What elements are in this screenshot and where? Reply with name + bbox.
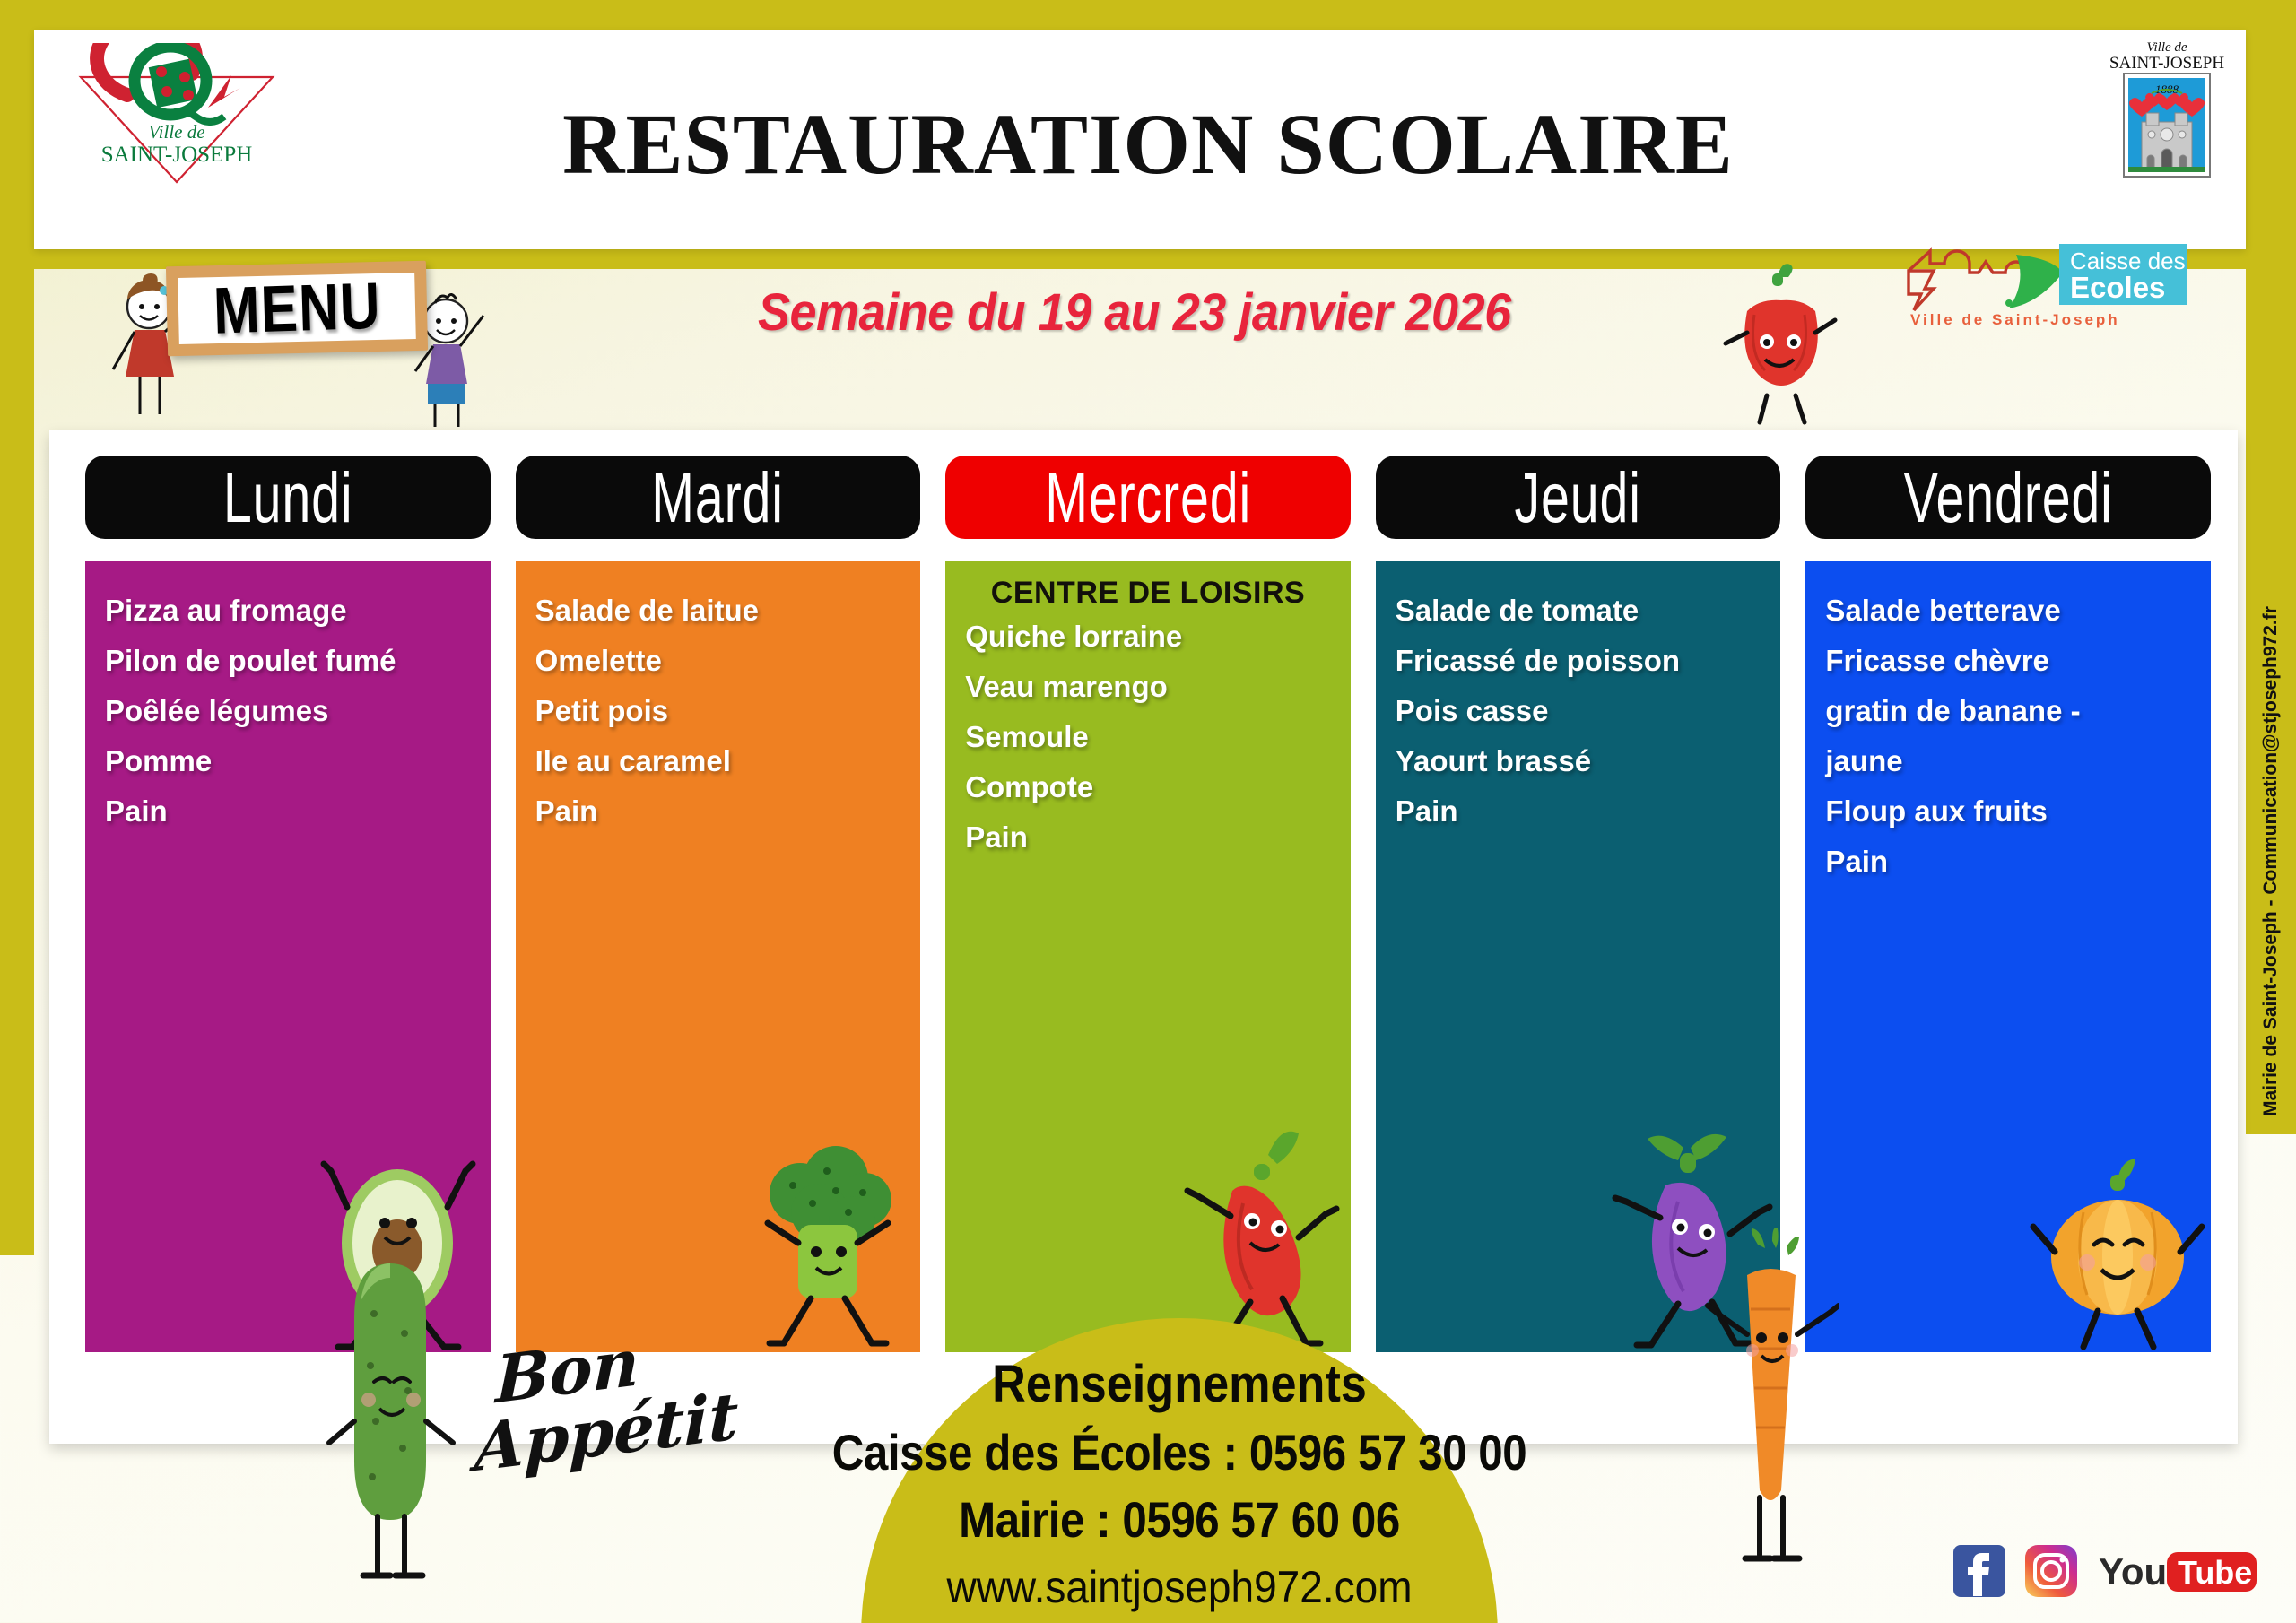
menu-item: Fricassé de poisson [1396, 646, 1761, 675]
svg-text:Ecoles: Ecoles [2070, 271, 2165, 304]
menu-item: Ile au caramel [535, 746, 901, 776]
cucumber-mascot [318, 1251, 462, 1596]
menu-item: Pilon de poulet fumé [105, 646, 471, 675]
caisse-phone-line: Caisse des Écoles : 0596 57 30 00 [686, 1423, 1673, 1481]
day-body-mercredi: CENTRE DE LOISIRS Quiche lorraine Veau m… [945, 561, 1351, 1352]
caisse-des-ecoles-logo: Caisse des Ecoles Ville de Saint-Joseph [1900, 235, 2187, 334]
menu-item: Veau marengo [965, 672, 1331, 701]
svg-text:SAINT-JOSEPH: SAINT-JOSEPH [2109, 54, 2224, 73]
menu-item: Pois casse [1396, 696, 1761, 725]
menu-item: Salade de laitue [535, 595, 901, 625]
instagram-icon[interactable] [2025, 1545, 2077, 1601]
svg-text:Ville de: Ville de [2146, 40, 2187, 55]
menu-item: Omelette [535, 646, 901, 675]
menu-board: MENU [166, 261, 428, 357]
menu-item: Pain [535, 796, 901, 826]
chili-pepper-mascot [1168, 1108, 1347, 1350]
svg-text:Tube: Tube [2178, 1554, 2252, 1591]
menu-item: Salade betterave [1825, 595, 2191, 625]
menu-board-label: MENU [213, 268, 382, 349]
website-url[interactable]: www.saintjoseph972.com [664, 1561, 1695, 1613]
menu-item: Pain [1396, 796, 1761, 826]
day-label-vendredi: Vendredi [1904, 457, 2113, 538]
day-column-vendredi: Vendredi Salade betterave Fricasse chèvr… [1805, 456, 2211, 1352]
day-header-mercredi[interactable]: Mercredi [945, 456, 1351, 539]
menu-item: Compote [965, 772, 1331, 802]
centre-de-loisirs-subtitle: CENTRE DE LOISIRS [965, 576, 1331, 611]
menu-item: jaune [1825, 746, 2191, 776]
renseignements-title: Renseignements [675, 1354, 1684, 1414]
day-column-jeudi: Jeudi Salade de tomate Fricassé de poiss… [1376, 456, 1781, 1352]
weekday-menu-grid: Lundi Pizza au fromage Pilon de poulet f… [85, 456, 2211, 1352]
social-links: You Tube [1953, 1545, 2258, 1601]
menu-item: Pain [965, 822, 1331, 852]
broccoli-mascot [737, 1108, 917, 1350]
credit-text: Mairie de Saint-Joseph - Communication@s… [2260, 1107, 2282, 1116]
menu-item: gratin de banane - [1825, 696, 2191, 725]
day-column-lundi: Lundi Pizza au fromage Pilon de poulet f… [85, 456, 491, 1352]
pumpkin-mascot [2028, 1108, 2207, 1350]
day-header-mardi[interactable]: Mardi [516, 456, 921, 539]
menu-item: Pain [105, 796, 471, 826]
mairie-phone-line: Mairie : 0596 57 60 06 [686, 1490, 1673, 1549]
credit-wrapper: Mairie de Saint-Joseph - Communication@s… [2260, 1116, 2269, 1125]
day-header-lundi[interactable]: Lundi [85, 456, 491, 539]
menu-item: Petit pois [535, 696, 901, 725]
day-label-jeudi: Jeudi [1515, 457, 1641, 538]
menu-item: Poêlée légumes [105, 696, 471, 725]
page-title: RESTAURATION SCOLAIRE [0, 94, 2296, 194]
menu-item: Pomme [105, 746, 471, 776]
day-body-lundi: Pizza au fromage Pilon de poulet fumé Po… [85, 561, 491, 1352]
day-header-vendredi[interactable]: Vendredi [1805, 456, 2211, 539]
menu-item: Pizza au fromage [105, 595, 471, 625]
day-label-mardi: Mardi [652, 457, 785, 538]
youtube-icon[interactable]: You Tube [2097, 1545, 2258, 1601]
facebook-icon[interactable] [1953, 1545, 2005, 1601]
menu-item: Semoule [965, 722, 1331, 751]
menu-item: Pain [1825, 846, 2191, 876]
menu-item: Yaourt brassé [1396, 746, 1761, 776]
week-range-label: Semaine du 19 au 23 janvier 2026 [758, 282, 1511, 343]
day-body-mardi: Salade de laitue Omelette Petit pois Ile… [516, 561, 921, 1352]
svg-text:Ville de Saint-Joseph: Ville de Saint-Joseph [1910, 311, 2120, 328]
day-body-vendredi: Salade betterave Fricasse chèvre gratin … [1805, 561, 2211, 1352]
renseignements-block: Renseignements Caisse des Écoles : 0596 … [619, 1354, 1740, 1613]
bell-pepper-mascot [1722, 256, 1839, 426]
day-column-mardi: Mardi Salade de laitue Omelette Petit po… [516, 456, 921, 1352]
svg-text:You: You [2099, 1550, 2167, 1593]
menu-item: Floup aux fruits [1825, 796, 2191, 826]
day-label-mercredi: Mercredi [1045, 457, 1251, 538]
day-column-mercredi: Mercredi CENTRE DE LOISIRS Quiche lorrai… [945, 456, 1351, 1352]
menu-item: Quiche lorraine [965, 621, 1331, 651]
menu-item: Fricasse chèvre [1825, 646, 2191, 675]
day-header-jeudi[interactable]: Jeudi [1376, 456, 1781, 539]
menu-item: Salade de tomate [1396, 595, 1761, 625]
blason-saint-joseph: Ville de SAINT-JOSEPH 1888 [2102, 36, 2231, 179]
day-label-lundi: Lundi [223, 457, 353, 538]
